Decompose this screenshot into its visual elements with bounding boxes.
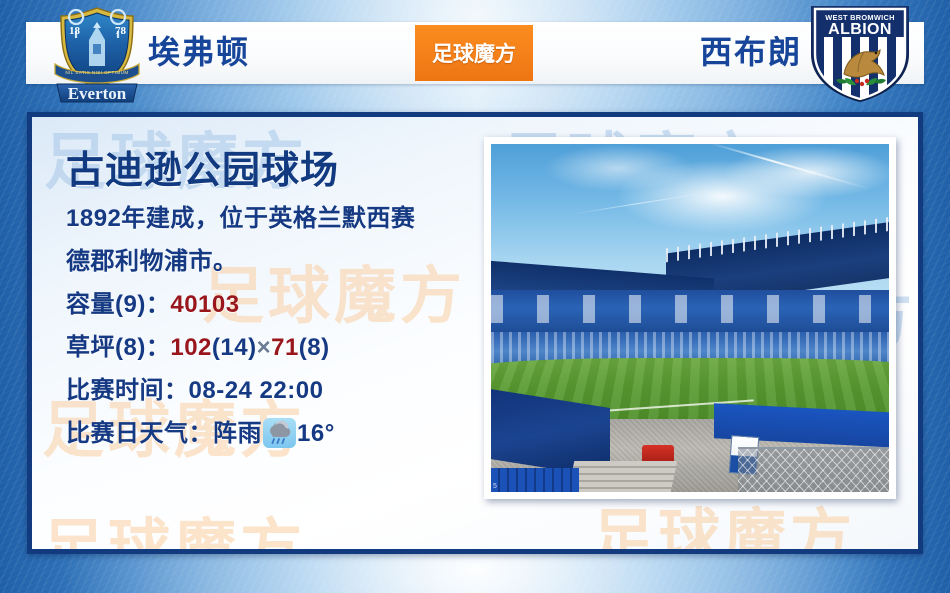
pitch-length-rating: (14)	[212, 334, 257, 361]
weather-temperature: 16°	[297, 420, 335, 447]
everton-crest-icon: 18 78 NIL SATIS NISI OPTIMUM Everton	[43, 4, 151, 104]
pitch-width-rating: (8)	[299, 334, 330, 361]
pitch-length: 102	[170, 334, 212, 361]
home-team-name: 埃弗顿	[148, 29, 250, 75]
rain-cloud-icon	[263, 418, 296, 448]
capacity-row: 容量(9)：40103	[66, 283, 486, 326]
weather-separator: ：	[189, 420, 214, 447]
stadium-info-block: 古迪逊公园球场 1892年建成，位于英格兰默西赛 德郡利物浦市。 容量(9)：4…	[66, 145, 486, 455]
pitch-row: 草坪(8)：102(14)×71(8)	[66, 326, 486, 369]
weather-label: 比赛日天气	[66, 420, 189, 447]
photo-foreground-seats	[491, 468, 579, 492]
photo-corner-label: 5	[493, 483, 497, 490]
svg-text:ALBION: ALBION	[828, 21, 892, 38]
svg-text:Everton: Everton	[68, 84, 127, 103]
stadium-info-panel: 足球魔方 足球魔方 足球魔方 足球魔方 足球魔方 足球魔方 足球魔方 古迪逊公园…	[27, 112, 923, 554]
watermark: 足球魔方	[42, 497, 306, 554]
capacity-value: 40103	[170, 291, 239, 318]
photo-fence	[738, 447, 889, 492]
svg-text:78: 78	[115, 25, 127, 37]
match-header: 18 78 NIL SATIS NISI OPTIMUM Everton 埃弗顿…	[0, 0, 950, 108]
brand-logo-text: 足球魔方	[432, 38, 516, 68]
photo-steps	[567, 461, 677, 492]
weather-row: 比赛日天气：阵雨 16°	[66, 412, 486, 455]
match-time-value: 08-24 22:00	[189, 377, 324, 404]
svg-text:18: 18	[69, 25, 81, 37]
capacity-label: 容量(9)	[66, 291, 146, 318]
pitch-times-symbol: ×	[257, 334, 272, 361]
match-time-row: 比赛时间：08-24 22:00	[66, 369, 486, 412]
brand-logo[interactable]: 足球魔方	[415, 25, 533, 81]
capacity-separator: ：	[146, 291, 171, 318]
stadium-description-line-1: 1892年建成，位于英格兰默西赛	[66, 197, 486, 240]
stadium-photo-frame[interactable]: 5	[484, 137, 896, 499]
svg-text:NIL SATIS NISI OPTIMUM: NIL SATIS NISI OPTIMUM	[65, 70, 128, 75]
stadium-description-line-2: 德郡利物浦市。	[66, 240, 486, 283]
away-team-name: 西布朗	[700, 29, 802, 75]
photo-stand-lettering	[491, 295, 889, 323]
pitch-label: 草坪(8)	[66, 334, 146, 361]
stadium-title: 古迪逊公园球场	[66, 145, 486, 197]
west-bromwich-albion-crest-icon: WEST BROMWICH ALBION	[808, 6, 912, 102]
stadium-photo: 5	[491, 144, 889, 492]
match-time-separator: ：	[164, 377, 189, 404]
match-time-label: 比赛时间	[66, 377, 164, 404]
pitch-width: 71	[271, 334, 299, 361]
weather-condition: 阵雨	[213, 420, 262, 447]
pitch-separator: ：	[146, 334, 171, 361]
